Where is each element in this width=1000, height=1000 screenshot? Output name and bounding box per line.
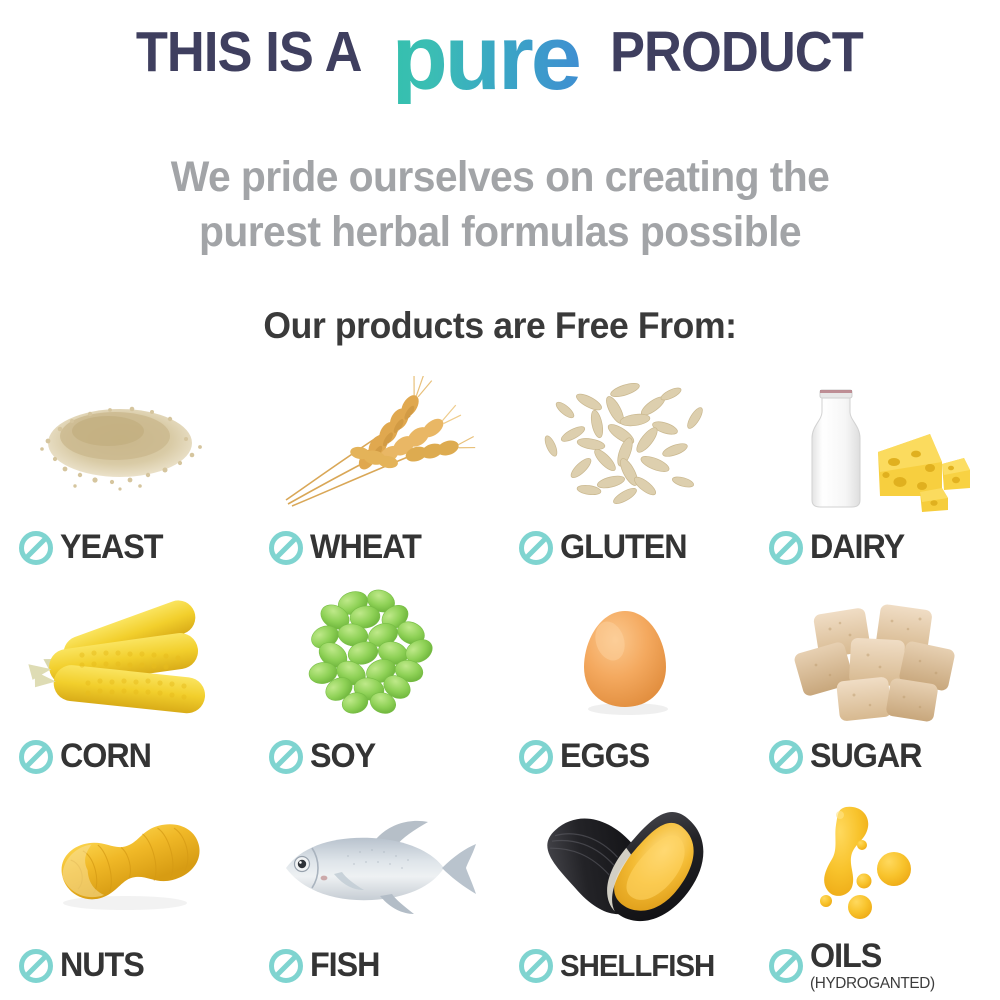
fish-art: [268, 804, 483, 924]
list-item: YEAST: [0, 372, 250, 581]
list-item: CORN: [0, 581, 250, 790]
brand-logo-pure: pure: [392, 12, 579, 104]
soy-beans-image: [250, 581, 500, 729]
label-row: EGGS: [518, 733, 654, 781]
list-item: WHEAT: [250, 372, 500, 581]
peanut-image: [0, 790, 250, 938]
item-label: SOY: [310, 740, 375, 773]
label-row: YEAST: [18, 524, 168, 572]
prohibition-icon: [18, 530, 54, 566]
list-item: SUGAR: [750, 581, 1000, 790]
list-item: DAIRY: [750, 372, 1000, 581]
label-row: DAIRY: [768, 524, 909, 572]
list-item: SHELLFISH: [500, 790, 750, 999]
prohibition-icon: [518, 530, 554, 566]
wheat-stalks-art: [270, 376, 480, 516]
prohibition-icon: [18, 948, 54, 984]
free-from-grid: YEAST: [0, 372, 1000, 1000]
milk-bottle-cheese-art: [770, 376, 980, 516]
peanut-art: [25, 799, 225, 929]
page-headline: THIS IS A pure PRODUCT: [0, 2, 1000, 102]
prohibition-icon: [518, 739, 554, 775]
headline-prefix: THIS IS A: [136, 24, 362, 81]
item-label: WHEAT: [310, 531, 421, 564]
label-row: SUGAR: [768, 733, 927, 781]
headline-suffix: PRODUCT: [610, 24, 863, 81]
yeast-granules-art: [20, 381, 230, 511]
item-label: SHELLFISH: [560, 951, 714, 981]
grain-kernels-art: [525, 376, 725, 516]
infographic-page: THIS IS A pure PRODUCT We pride ourselve…: [0, 0, 1000, 1000]
oil-drops-art: [790, 797, 960, 932]
label-row: CORN: [18, 733, 156, 781]
item-label: YEAST: [60, 531, 162, 564]
label-row: OILS (HYDROGANTED): [768, 942, 940, 990]
list-item: GLUTEN: [500, 372, 750, 581]
wheat-stalks-image: [250, 372, 500, 520]
corn-cobs-image: [0, 581, 250, 729]
list-item: SOY: [250, 581, 500, 790]
brown-sugar-cubes-art: [780, 585, 970, 725]
fish-image: [250, 790, 500, 938]
yeast-granules-image: [0, 372, 250, 520]
item-label: GLUTEN: [560, 531, 687, 564]
label-row: SHELLFISH: [518, 942, 722, 990]
item-label: CORN: [60, 740, 151, 773]
item-label: FISH: [310, 949, 379, 982]
list-item: OILS (HYDROGANTED): [750, 790, 1000, 999]
prohibition-icon: [768, 530, 804, 566]
brown-sugar-cubes-image: [750, 581, 1000, 729]
list-item: EGGS: [500, 581, 750, 790]
prohibition-icon: [268, 739, 304, 775]
item-label: DAIRY: [810, 531, 904, 564]
prohibition-icon: [768, 739, 804, 775]
subtitle: We pride ourselves on creating the pures…: [73, 150, 928, 260]
prohibition-icon: [768, 948, 804, 984]
prohibition-icon: [518, 948, 554, 984]
corn-cobs-art: [18, 585, 233, 725]
mussels-heart-art: [530, 792, 720, 937]
list-item: NUTS: [0, 790, 250, 999]
brown-egg-art: [550, 585, 700, 725]
item-sublabel: (HYDROGANTED): [810, 975, 935, 993]
label-row: SOY: [268, 733, 379, 781]
label-row: GLUTEN: [518, 524, 693, 572]
subtitle-line-2: purest herbal formulas possible: [73, 205, 928, 260]
item-label: EGGS: [560, 740, 649, 773]
list-item: FISH: [250, 790, 500, 999]
mussels-heart-image: [500, 790, 750, 938]
page-title: Our products are Free From:: [20, 305, 980, 347]
grain-kernels-image: [500, 372, 750, 520]
label-row: NUTS: [18, 942, 148, 990]
prohibition-icon: [268, 530, 304, 566]
soy-beans-art: [295, 585, 455, 725]
item-label: SUGAR: [810, 740, 921, 773]
subtitle-line-1: We pride ourselves on creating the: [73, 150, 928, 205]
prohibition-icon: [268, 948, 304, 984]
item-label: OILS: [810, 940, 933, 973]
prohibition-icon: [18, 739, 54, 775]
item-label: NUTS: [60, 949, 144, 982]
oil-drops-image: [750, 790, 1000, 938]
label-row: FISH: [268, 942, 383, 990]
milk-bottle-cheese-image: [750, 372, 1000, 520]
brown-egg-image: [500, 581, 750, 729]
label-row: WHEAT: [268, 524, 427, 572]
